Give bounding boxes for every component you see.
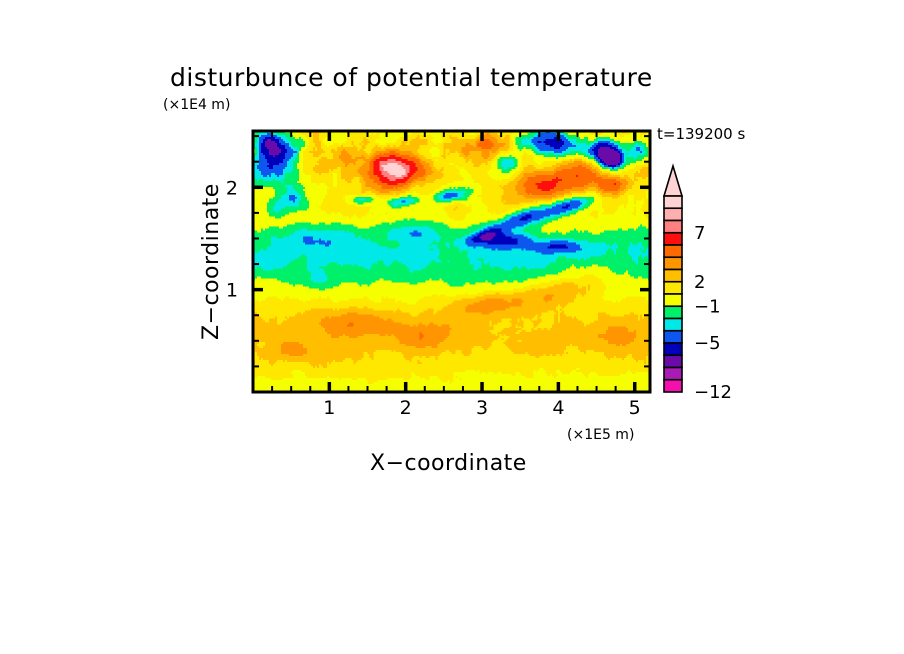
y-tick-label: 2 <box>226 177 238 199</box>
colorbar-cell <box>664 196 682 208</box>
colorbar-label: 2 <box>694 272 705 293</box>
contour-figure: disturbunce of potential temperature (×1… <box>0 0 904 654</box>
x-tick-label: 4 <box>552 397 564 419</box>
colorbar-cell <box>664 208 682 220</box>
x-axis-unit-label: (×1E5 m) <box>567 427 634 443</box>
contour-plot-area: 12345 12 <box>226 131 651 419</box>
colorbar-cell <box>664 257 682 269</box>
y-axis-unit-label: (×1E4 m) <box>163 97 230 113</box>
colorbar-label: −12 <box>694 382 732 403</box>
colorbar-cell <box>664 380 682 392</box>
page-title: disturbunce of potential temperature <box>170 63 653 92</box>
colorbar-cell <box>664 245 682 257</box>
colorbar-cell <box>664 270 682 282</box>
colorbar-cell <box>664 282 682 294</box>
colorbar-cell <box>664 355 682 367</box>
x-tick-label: 1 <box>323 397 335 419</box>
colorbar-cell <box>664 319 682 331</box>
y-tick-label: 1 <box>226 280 238 302</box>
colorbar-label: −5 <box>694 333 721 354</box>
colorbar-cell <box>664 343 682 355</box>
colorbar-cell <box>664 221 682 233</box>
colorbar-cell <box>664 306 682 318</box>
colorbar-label: −1 <box>694 296 721 317</box>
x-axis-label: X−coordinate <box>370 451 527 476</box>
colorbar-cell <box>664 294 682 306</box>
x-tick-label: 5 <box>629 397 641 419</box>
x-tick-label: 2 <box>400 397 412 419</box>
colorbar-cell <box>664 368 682 380</box>
colorbar-cells <box>664 196 682 392</box>
colorbar-cell <box>664 331 682 343</box>
colorbar-cell <box>664 233 682 245</box>
y-axis-label: Z−coordinate <box>199 183 224 340</box>
x-tick-label: 3 <box>476 397 488 419</box>
colorbar-label: 7 <box>694 223 705 244</box>
time-label: t=139200 s <box>657 125 745 143</box>
